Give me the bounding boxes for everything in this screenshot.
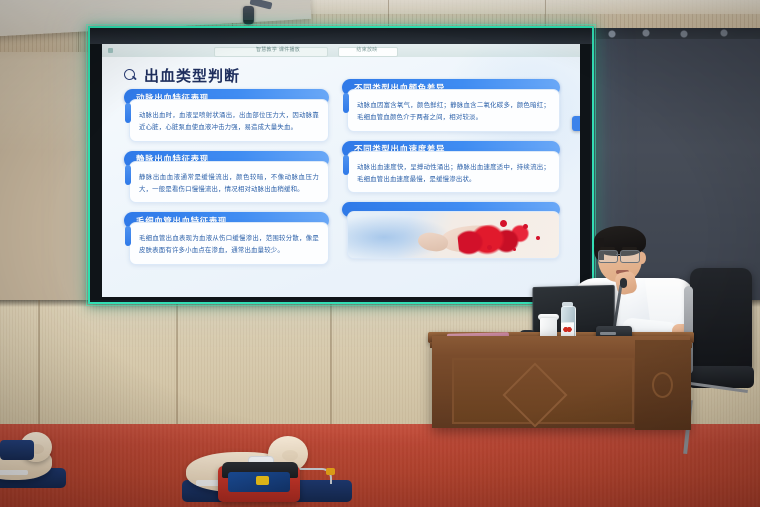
magnifier-icon — [124, 69, 137, 82]
aed-connector-plug — [326, 468, 335, 475]
wainscot-seam — [176, 300, 178, 428]
slide-title-row: 出血类型判断 — [124, 65, 240, 86]
card-bleeding-photo — [342, 202, 560, 259]
blood-splatter — [500, 220, 507, 227]
card-body: 静脉出血血液通常是缓慢流出，颜色较暗，不像动脉血压力大，一般是看伤口慢慢流出，情… — [129, 161, 329, 204]
app-bar-tab-label: 智慧教学 课件播放 — [228, 46, 328, 55]
card-body-text: 动脉出血速度快，呈搏动性涌出；静脉出血速度适中，持续流出；毛细血管出血速度最慢，… — [357, 162, 550, 186]
bottle-label — [561, 322, 574, 336]
blood-splatter — [487, 245, 492, 250]
card-speed-difference: 不同类型出血速度差异 动脉出血速度快，呈搏动性涌出；静脉出血速度适中，持续流出；… — [342, 141, 560, 194]
card-tab-nub — [125, 165, 131, 185]
end-show-button-label: 结束放映 — [342, 46, 392, 55]
slide-canvas: 出血类型判断 动脉出血特征表现 动脉出血时，血液呈喷射状涌出，出血部位压力大，因… — [102, 57, 580, 297]
screen-top-bezel — [90, 28, 592, 44]
slide-title: 出血类型判断 — [144, 65, 240, 86]
card-tab-nub — [125, 103, 131, 123]
card-body: 动脉出血时，血液呈喷射状涌出，出血部位压力大，因动脉靠近心脏，心脏泵血使血液冲击… — [129, 99, 329, 142]
card-tab-nub — [343, 93, 349, 113]
manikin-strap — [0, 470, 28, 475]
slide-right-column: 不同类型出血颜色差异 动脉血因富含氧气，颜色鲜红；静脉血含二氧化碳多，颜色暗红；… — [342, 79, 560, 268]
slide-side-tab[interactable] — [572, 116, 580, 131]
blood-splatter — [513, 248, 516, 251]
card-body: 动脉血因富含氧气，颜色鲜红；静脉血含二氧化碳多，颜色暗红；毛细血管血颜色介于两者… — [347, 89, 560, 132]
wainscot-seam — [330, 300, 332, 428]
projection-screen[interactable]: 智慧教学 课件播放 结束放映 出血类型判断 动脉出血特征表现 — [88, 26, 594, 304]
slide-left-column: 动脉出血特征表现 动脉出血时，血液呈喷射状涌出，出血部位压力大，因动脉靠近心脏，… — [124, 89, 329, 274]
screenshot-root: 智慧教学 课件播放 结束放映 出血类型判断 动脉出血特征表现 — [0, 0, 760, 507]
podium-side-oval-inlay — [652, 372, 673, 398]
eyeglasses-icon — [598, 250, 644, 261]
screen-display-area[interactable]: 智慧教学 课件播放 结束放映 出血类型判断 动脉出血特征表现 — [102, 44, 580, 297]
dark-wall-highlights — [600, 29, 760, 38]
card-tab-nub — [343, 155, 349, 175]
manikin-face — [282, 450, 298, 461]
card-body: 动脉出血速度快，呈搏动性涌出；静脉出血速度适中，持续流出；毛细血管出血速度最慢，… — [347, 151, 560, 194]
glasses-bridge — [616, 254, 621, 255]
wainscot-seam — [38, 300, 40, 428]
carpet-texture — [0, 424, 760, 507]
card-body-text: 动脉出血时，血液呈喷射状涌出，出血部位压力大，因动脉靠近心脏，心脏泵血使血液冲击… — [139, 110, 319, 134]
bleeding-hand-photo — [347, 211, 560, 259]
card-color-difference: 不同类型出血颜色差异 动脉血因富含氧气，颜色鲜红；静脉血含二氧化碳多，颜色暗红；… — [342, 79, 560, 132]
microphone-head-icon — [620, 278, 627, 288]
card-body-text: 毛细血管出血表现为血液从伤口缓慢渗出，范围较分散，像是皮肤表面有许多小血点在渗血… — [139, 233, 319, 257]
card-body-text: 动脉血因富含氧气，颜色鲜红；静脉血含二氧化碳多，颜色暗红；毛细血管血颜色介于两者… — [357, 100, 550, 124]
glasses-lens-right — [620, 250, 640, 263]
training-kit-bag — [0, 440, 34, 460]
card-body-text: 静脉出血血液通常是缓慢流出，颜色较暗，不像动脉血压力大，一般是看伤口慢慢流出，情… — [139, 172, 319, 196]
black-office-chair[interactable] — [690, 268, 752, 372]
card-capillary-bleeding: 毛细血管出血特征表现 毛细血管出血表现为血液从伤口缓慢渗出，范围较分散，像是皮肤… — [124, 212, 329, 265]
card-tab-nub — [125, 226, 131, 246]
card-venous-bleeding: 静脉出血特征表现 静脉出血血液通常是缓慢流出，颜色较暗，不像动脉血压力大，一般是… — [124, 151, 329, 204]
app-bar-icon — [108, 48, 113, 53]
glasses-lens-left — [598, 250, 618, 263]
aed-shock-button[interactable] — [256, 476, 269, 485]
card-arterial-bleeding: 动脉出血特征表现 动脉出血时，血液呈喷射状涌出，出血部位压力大，因动脉靠近心脏，… — [124, 89, 329, 142]
card-body: 毛细血管出血表现为血液从伤口缓慢渗出，范围较分散，像是皮肤表面有许多小血点在渗血… — [129, 222, 329, 265]
